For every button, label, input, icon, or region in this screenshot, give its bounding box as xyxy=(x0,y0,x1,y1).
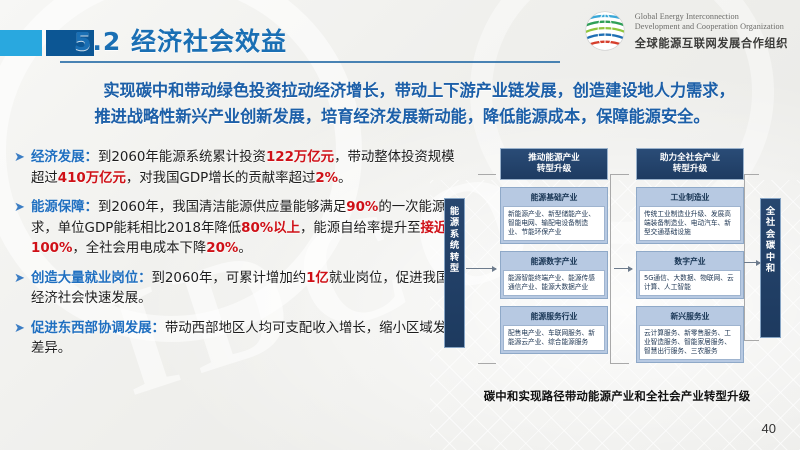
bracket-col1-right xyxy=(610,174,629,364)
organization-logo: Global Energy Interconnection Developmen… xyxy=(582,8,788,54)
bullet-highlight-value: 20% xyxy=(206,241,238,256)
vertical-label-carbon-neutral-char: 中 xyxy=(761,252,780,263)
bullet-segment: 。 xyxy=(338,171,351,186)
column-header-line1: 推动能源产业 xyxy=(503,153,605,164)
vertical-label-carbon-neutral-char: 和 xyxy=(761,263,780,274)
vertical-label-energy-system-char: 系 xyxy=(445,229,464,240)
lead-line-1: 实现碳中和带动绿色投资拉动经济增长，带动上下游产业链发展，创造建设地人力需求， xyxy=(32,78,772,104)
bullet-segment: 到2060年能源系统累计投资 xyxy=(98,150,266,165)
lead-line-2: 推进战略性新兴产业创新发展，培育经济发展新动能，降低能源成本，保障能源安全。 xyxy=(32,104,772,130)
diagram-node-body: 配售电产业、车联网服务、新能源云产业、综合能源服务 xyxy=(503,325,605,351)
vertical-label-energy-system-char: 型 xyxy=(445,263,464,274)
bullet-lead-label: 创造大量就业岗位： xyxy=(31,271,152,286)
vertical-label-carbon-neutral: 全社会碳中和 xyxy=(760,198,781,338)
diagram-node: 新兴服务业云计算服务、新零售服务、工业智造服务、智能家居服务、智慧出行服务、三农… xyxy=(636,306,744,363)
bullet-lead-label: 经济发展： xyxy=(31,150,98,165)
diagram-node-body: 5G通信、大数据、物联网、云计算、人工智能 xyxy=(639,270,741,296)
bullet-item: ➤经济发展：到2060年能源系统累计投资122万亿元，带动整体投资规模超过410… xyxy=(14,148,462,189)
diagram-node: 能源服务行业配售电产业、车联网服务、新能源云产业、综合能源服务 xyxy=(500,306,608,354)
arrow-col2-to-right-label xyxy=(744,262,760,263)
transformation-diagram: 能源系统转型 全社会碳中和 推动能源产业转型升级能源基础产业新能源产业、新型储能… xyxy=(438,146,796,384)
page-title: 5.2 经济社会效益 xyxy=(74,22,287,58)
diagram-node-title: 数字产业 xyxy=(639,254,741,270)
diagram-node-title: 工业制造业 xyxy=(639,190,741,206)
column-header: 助力全社会产业转型升级 xyxy=(636,148,744,180)
bullet-list: ➤经济发展：到2060年能源系统累计投资122万亿元，带动整体投资规模超过410… xyxy=(14,148,462,369)
column-energy-industry: 推动能源产业转型升级能源基础产业新能源产业、新型储能产业、智能电网、输配电设备制… xyxy=(500,148,608,354)
arrow-col1-to-col2 xyxy=(614,268,632,269)
bullet-marker-icon: ➤ xyxy=(14,319,31,360)
bullet-lead-label: 促进东西部协调发展： xyxy=(31,321,165,336)
bullet-segment: 到2060年，可累计增加约 xyxy=(152,271,307,286)
bullet-segment: ，全社会用电成本下降 xyxy=(72,241,206,256)
diagram-node-body: 新能源产业、新型储能产业、智能电网、输配电设备制造业、节能环保产业 xyxy=(503,206,605,242)
bullet-item: ➤创造大量就业岗位：到2060年，可累计增加约1亿就业岗位，促进我国经济社会快速… xyxy=(14,269,462,310)
bullet-highlight-value: 1亿 xyxy=(306,271,329,286)
bullet-segment: ，对我国GDP增长的贡献率超过 xyxy=(126,171,315,186)
bullet-highlight-value: 2% xyxy=(315,171,338,186)
logo-en-line2: Development and Cooperation Organization xyxy=(635,22,788,33)
vertical-label-energy-system-char: 能 xyxy=(445,206,464,217)
header-accent-bar-cyan xyxy=(0,30,42,56)
vertical-label-carbon-neutral-char: 全 xyxy=(761,206,780,217)
bullet-marker-icon: ➤ xyxy=(14,269,31,310)
bullet-item: ➤促进东西部协调发展：带动西部地区人均可支配收入增长，缩小区域发展差异。 xyxy=(14,319,462,360)
bullet-segment: ，能源自给率提升至 xyxy=(300,221,421,236)
diagram-node-title: 能源服务行业 xyxy=(503,309,605,325)
bullet-segment: 。 xyxy=(238,241,251,256)
column-header-line1: 助力全社会产业 xyxy=(639,153,741,164)
diagram-node-body: 能源智能终端产业、能源传感通信产业、能源大数据产业 xyxy=(503,270,605,296)
diagram-node: 工业制造业传统工业制造业升级、发展高端装备制造业、电动汽车、新型交通基础设施 xyxy=(636,187,744,244)
diagram-node-body: 云计算服务、新零售服务、工业智造服务、智能家居服务、智慧出行服务、三农服务 xyxy=(639,325,741,361)
bullet-text: 经济发展：到2060年能源系统累计投资122万亿元，带动整体投资规模超过410万… xyxy=(31,148,462,189)
bullet-lead-label: 能源保障： xyxy=(31,200,98,215)
vertical-label-energy-system: 能源系统转型 xyxy=(444,198,465,348)
bullet-marker-icon: ➤ xyxy=(14,198,31,260)
vertical-label-energy-system-char: 统 xyxy=(445,240,464,251)
bullet-text: 促进东西部协调发展：带动西部地区人均可支配收入增长，缩小区域发展差异。 xyxy=(31,319,462,360)
diagram-node-title: 能源基础产业 xyxy=(503,190,605,206)
column-social-industry: 助力全社会产业转型升级工业制造业传统工业制造业升级、发展高端装备制造业、电动汽车… xyxy=(636,148,744,363)
lead-paragraph: 实现碳中和带动绿色投资拉动经济增长，带动上下游产业链发展，创造建设地人力需求， … xyxy=(32,78,772,130)
bullet-highlight-value: 90% xyxy=(346,200,378,215)
bullet-item: ➤能源保障：到2060年，我国清洁能源供应量能够满足90%的一次能源需求，单位G… xyxy=(14,198,462,260)
diagram-node: 能源数字产业能源智能终端产业、能源传感通信产业、能源大数据产业 xyxy=(500,251,608,299)
vertical-label-energy-system-char: 转 xyxy=(445,252,464,263)
bullet-segment: 到2060年，我国清洁能源供应量能够满足 xyxy=(98,200,346,215)
diagram-caption: 碳中和实现路径带动能源产业和全社会产业转型升级 xyxy=(438,388,796,404)
vertical-label-energy-system-char: 源 xyxy=(445,217,464,228)
logo-cn-name: 全球能源互联网发展合作组织 xyxy=(635,35,788,51)
globe-mesh-logo-icon xyxy=(582,8,628,54)
header-divider xyxy=(60,61,560,63)
diagram-node-title: 能源数字产业 xyxy=(503,254,605,270)
vertical-label-carbon-neutral-char: 会 xyxy=(761,229,780,240)
bullet-text: 能源保障：到2060年，我国清洁能源供应量能够满足90%的一次能源需求，单位GD… xyxy=(31,198,462,260)
bracket-col1-left xyxy=(478,174,496,364)
diagram-node: 数字产业5G通信、大数据、物联网、云计算、人工智能 xyxy=(636,251,744,299)
bracket-col2-right xyxy=(744,174,759,341)
logo-en-line1: Global Energy Interconnection xyxy=(635,12,788,23)
vertical-label-carbon-neutral-char: 碳 xyxy=(761,240,780,251)
diagram-node: 能源基础产业新能源产业、新型储能产业、智能电网、输配电设备制造业、节能环保产业 xyxy=(500,187,608,244)
bullet-marker-icon: ➤ xyxy=(14,148,31,189)
bullet-highlight-value: 80%以上 xyxy=(241,221,300,236)
column-header-line2: 转型升级 xyxy=(639,164,741,175)
bullet-highlight-value: 122万亿元 xyxy=(266,150,334,165)
diagram-node-body: 传统工业制造业升级、发展高端装备制造业、电动汽车、新型交通基础设施 xyxy=(639,206,741,242)
diagram-node-title: 新兴服务业 xyxy=(639,309,741,325)
slide-canvas: IDCO 5.2 经济社会效益 Glob xyxy=(0,0,800,450)
bullet-highlight-value: 410万亿元 xyxy=(58,171,126,186)
vertical-label-carbon-neutral-char: 社 xyxy=(761,217,780,228)
logo-text-block: Global Energy Interconnection Developmen… xyxy=(635,12,788,51)
column-header: 推动能源产业转型升级 xyxy=(500,148,608,180)
page-number: 40 xyxy=(762,421,776,436)
bullet-text: 创造大量就业岗位：到2060年，可累计增加约1亿就业岗位，促进我国经济社会快速发… xyxy=(31,269,462,310)
column-header-line2: 转型升级 xyxy=(503,164,605,175)
